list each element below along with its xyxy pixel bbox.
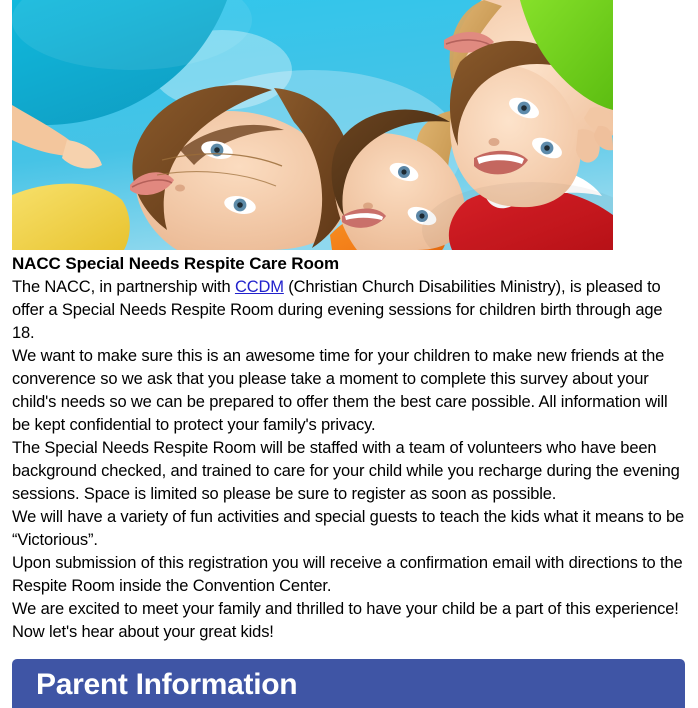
staffing-paragraph: The Special Needs Respite Room will be s… [12,437,686,506]
confirmation-paragraph: Upon submission of this registration you… [12,552,686,598]
ccdm-link[interactable]: CCDM [235,278,284,296]
section-title: Parent Information [36,667,297,703]
activities-paragraph: We will have a variety of fun activities… [12,506,686,552]
intro-paragraph: The NACC, in partnership with CCDM (Chri… [12,276,686,345]
parent-information-section-header: Parent Information [12,659,685,708]
survey-purpose-paragraph: We want to make sure this is an awesome … [12,345,686,437]
page-root: NACC Special Needs Respite Care Room The… [0,0,698,708]
hero-photo-illustration [12,0,613,250]
closing-paragraph: We are excited to meet your family and t… [12,598,686,644]
hero-photo [12,0,613,250]
article-content: NACC Special Needs Respite Care Room The… [12,253,686,644]
intro-text-before-link: The NACC, in partnership with [12,278,235,296]
page-title: NACC Special Needs Respite Care Room [12,253,686,275]
